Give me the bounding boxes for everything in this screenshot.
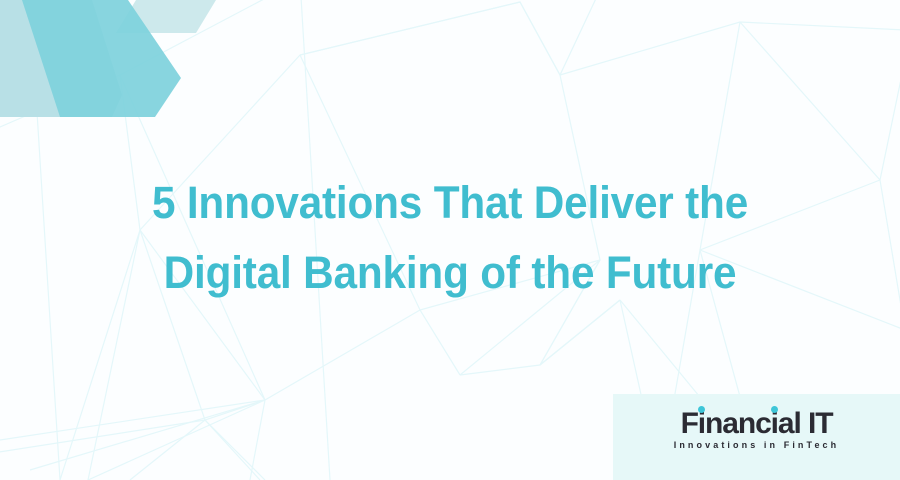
title-line-2: Digital Banking of the Future bbox=[27, 238, 873, 308]
title-line-1: 5 Innovations That Deliver the bbox=[27, 168, 873, 238]
logo-wordmark-mid: nanc bbox=[705, 407, 771, 440]
page-title: 5 Innovations That Deliver the Digital B… bbox=[0, 168, 900, 308]
logo-tagline: Innovations in FinTech bbox=[613, 439, 900, 451]
shape-teal-chevron bbox=[22, 0, 181, 117]
logo-letter-i-first: i bbox=[698, 408, 705, 440]
shape-light-hexagon bbox=[0, 0, 122, 117]
brand-logo: Financial IT Innovations in FinTech bbox=[613, 394, 900, 480]
shape-pale-hexagon bbox=[116, 0, 216, 33]
logo-dot-icon-second bbox=[771, 406, 778, 413]
brand-logo-panel[interactable]: Financial IT Innovations in FinTech bbox=[613, 394, 900, 480]
logo-dot-icon-first bbox=[698, 406, 705, 413]
article-banner: 5 Innovations That Deliver the Digital B… bbox=[0, 0, 900, 480]
logo-wordmark: Financial IT bbox=[613, 408, 900, 440]
corner-decoration-shapes bbox=[0, 0, 260, 140]
logo-letter-i-second: i bbox=[771, 408, 778, 440]
logo-wordmark-suffix: al IT bbox=[778, 407, 833, 440]
logo-wordmark-prefix: F bbox=[681, 407, 698, 440]
